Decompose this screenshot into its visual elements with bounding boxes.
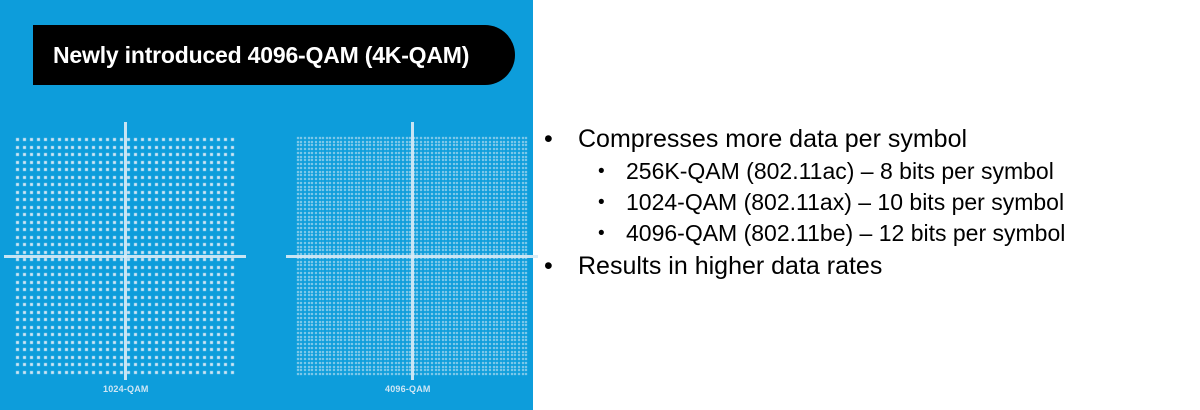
bullet-marker-icon: • [598, 218, 626, 249]
constellation-vertical-axis-1024 [124, 122, 127, 380]
constellation-diagram-4096-qam [296, 136, 528, 376]
bullet-marker-icon: • [598, 156, 626, 187]
title-banner-text: Newly introduced 4096-QAM (4K-QAM) [53, 42, 469, 69]
bullet-item: •256K-QAM (802.11ac) – 8 bits per symbol [544, 156, 1194, 187]
constellation-label-1024-qam: 1024-QAM [103, 384, 149, 394]
constellation-horizontal-axis-1024 [4, 255, 246, 258]
constellation-label-4096-qam: 4096-QAM [385, 384, 431, 394]
bullet-list: •Compresses more data per symbol•256K-QA… [544, 122, 1194, 283]
bullet-text: 256K-QAM (802.11ac) – 8 bits per symbol [626, 156, 1194, 187]
bullet-item: •Compresses more data per symbol [544, 122, 1194, 156]
bullet-text: Results in higher data rates [578, 249, 1194, 283]
bullet-item: •1024-QAM (802.11ax) – 10 bits per symbo… [544, 187, 1194, 218]
bullet-marker-icon: • [544, 122, 578, 156]
constellation-vertical-axis-4096 [411, 122, 414, 380]
constellation-horizontal-axis-4096 [286, 255, 538, 258]
title-banner: Newly introduced 4096-QAM (4K-QAM) [33, 25, 515, 85]
qam-illustration-panel: Newly introduced 4096-QAM (4K-QAM) 1024-… [0, 0, 533, 410]
bullet-item: •Results in higher data rates [544, 249, 1194, 283]
bullet-marker-icon: • [598, 187, 626, 218]
bullet-text: Compresses more data per symbol [578, 122, 1194, 156]
bullet-text: 4096-QAM (802.11be) – 12 bits per symbol [626, 218, 1194, 249]
bullet-item: •4096-QAM (802.11be) – 12 bits per symbo… [544, 218, 1194, 249]
bullet-text: 1024-QAM (802.11ax) – 10 bits per symbol [626, 187, 1194, 218]
bullet-marker-icon: • [544, 249, 578, 283]
constellation-diagram-1024-qam [14, 136, 236, 376]
